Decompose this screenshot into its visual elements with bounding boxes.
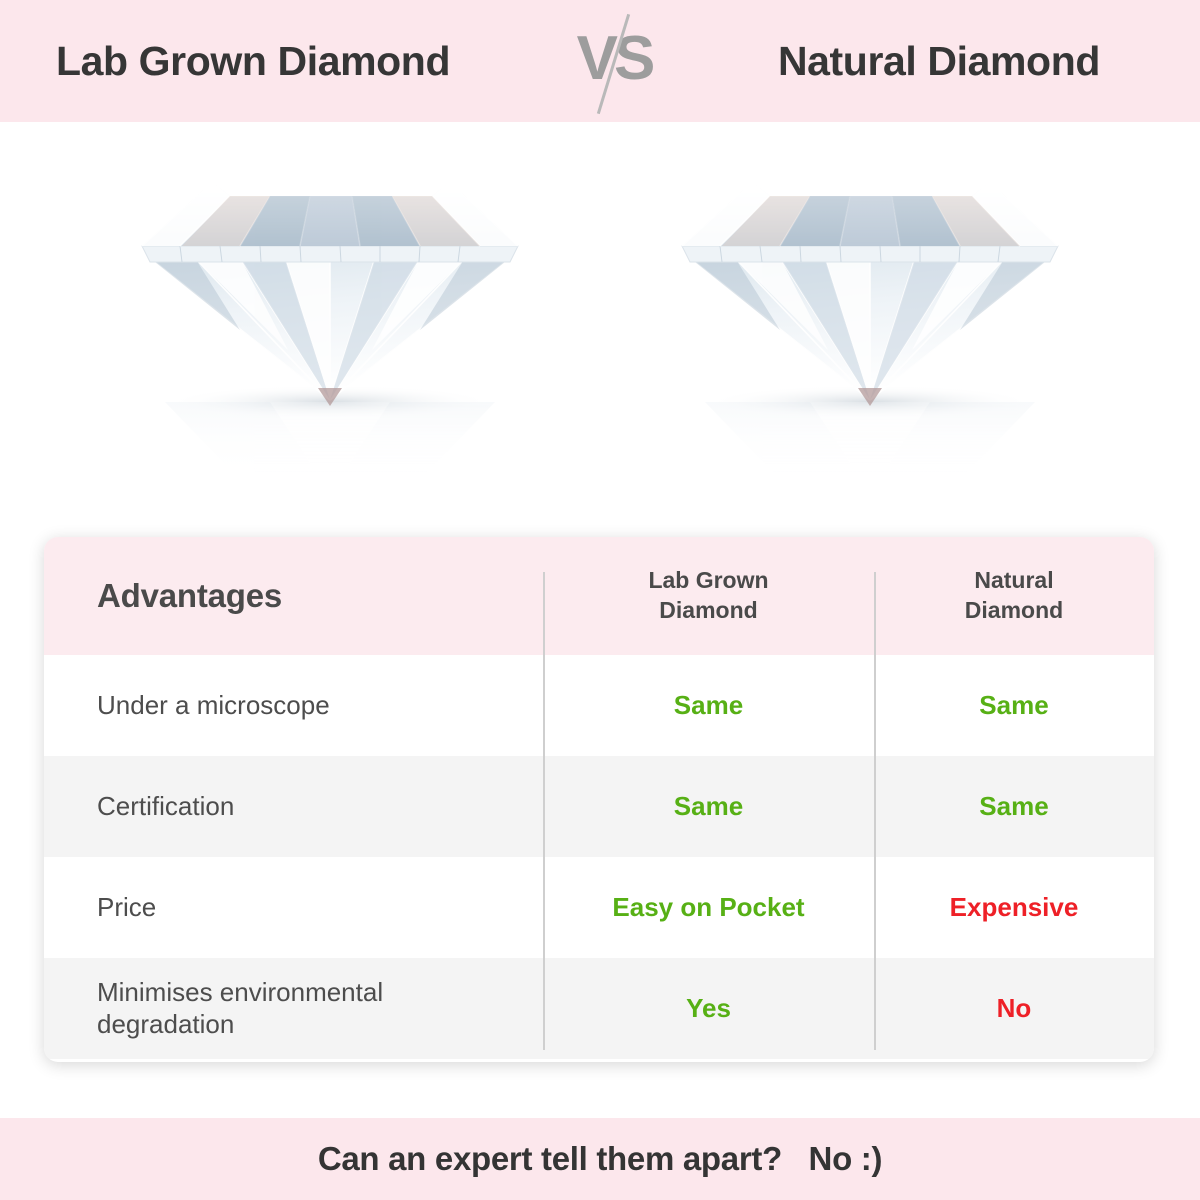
column-divider-first bbox=[543, 572, 545, 1050]
row-lab-value-cell: Same bbox=[543, 791, 874, 822]
column-header-lab-grown-diamond: Lab Grown Diamond bbox=[648, 567, 768, 623]
table-row: Minimises environmental degradation Yes … bbox=[44, 958, 1154, 1059]
footer-question-answer: Can an expert tell them apart? No :) bbox=[318, 1140, 882, 1178]
row-natural-value-cell: Expensive bbox=[874, 892, 1154, 923]
row-lab-value-cell: Easy on Pocket bbox=[543, 892, 874, 923]
diamond-illustration-right bbox=[660, 150, 1080, 500]
row-natural-value: Same bbox=[979, 791, 1048, 821]
row-lab-value: Same bbox=[674, 690, 743, 720]
natural-diamond-image bbox=[660, 150, 1080, 500]
row-natural-value: Expensive bbox=[950, 892, 1079, 922]
table-row: Price Easy on Pocket Expensive bbox=[44, 857, 1154, 958]
row-feature-label: Certification bbox=[97, 791, 234, 821]
column-header-natural-diamond: Natural Diamond bbox=[965, 567, 1063, 623]
row-feature-label: Under a microscope bbox=[97, 690, 330, 720]
column-header-advantages: Advantages bbox=[97, 577, 282, 614]
row-natural-value-cell: Same bbox=[874, 690, 1154, 721]
row-feature-cell: Price bbox=[44, 892, 543, 924]
versus-badge: VS bbox=[554, 0, 674, 122]
table-row: Certification Same Same bbox=[44, 756, 1154, 857]
row-lab-value: Yes bbox=[686, 993, 731, 1023]
table-header-row: Advantages Lab Grown Diamond Natural Dia… bbox=[44, 537, 1154, 655]
row-natural-value: No bbox=[997, 993, 1032, 1023]
row-natural-value-cell: No bbox=[874, 993, 1154, 1024]
table-row: Under a microscope Same Same bbox=[44, 655, 1154, 756]
column-header-advantages-cell: Advantages bbox=[44, 577, 543, 615]
row-lab-value-cell: Yes bbox=[543, 993, 874, 1024]
lab-grown-diamond-image bbox=[120, 150, 540, 500]
row-natural-value: Same bbox=[979, 690, 1048, 720]
row-feature-cell: Minimises environmental degradation bbox=[44, 977, 543, 1040]
column-divider-second bbox=[874, 572, 876, 1050]
row-feature-cell: Under a microscope bbox=[44, 690, 543, 722]
natural-diamond-title: Natural Diamond bbox=[778, 41, 1144, 82]
row-feature-label: Minimises environmental degradation bbox=[97, 977, 383, 1039]
footer-band: Can an expert tell them apart? No :) bbox=[0, 1118, 1200, 1200]
row-lab-value: Same bbox=[674, 791, 743, 821]
top-header-band: Lab Grown Diamond VS Natural Diamond bbox=[0, 0, 1200, 122]
column-header-lab-cell: Lab Grown Diamond bbox=[543, 566, 874, 626]
row-lab-value-cell: Same bbox=[543, 690, 874, 721]
diamond-images-area bbox=[0, 122, 1200, 532]
column-header-natural-cell: Natural Diamond bbox=[874, 566, 1154, 626]
diamond-illustration-left bbox=[120, 150, 540, 500]
row-lab-value: Easy on Pocket bbox=[612, 892, 804, 922]
row-feature-label: Price bbox=[97, 892, 156, 922]
comparison-table-card: Advantages Lab Grown Diamond Natural Dia… bbox=[44, 537, 1154, 1062]
row-natural-value-cell: Same bbox=[874, 791, 1154, 822]
lab-grown-diamond-title: Lab Grown Diamond bbox=[56, 41, 450, 82]
row-feature-cell: Certification bbox=[44, 791, 543, 823]
